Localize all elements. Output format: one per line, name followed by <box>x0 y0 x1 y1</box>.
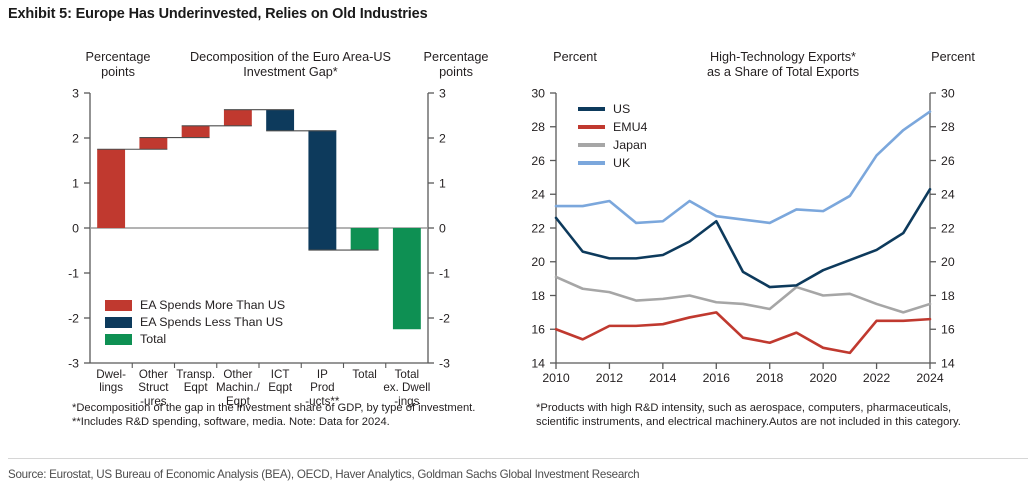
right-chart-footnote: *Products with high R&D intensity, such … <box>536 401 991 429</box>
waterfall-bar <box>139 138 167 150</box>
y-tick-label: 1 <box>439 176 446 190</box>
legend-label: EA Spends Less Than US <box>140 315 283 329</box>
line-plot: 141416161818202022222424262628283030 <box>518 0 1036 400</box>
footer-divider <box>8 458 1028 459</box>
y-tick-label: 30 <box>531 86 545 100</box>
y-tick-label: -1 <box>68 266 79 280</box>
y-tick-label: 2 <box>72 131 79 145</box>
waterfall-bar <box>351 228 379 250</box>
waterfall-bar <box>266 110 294 131</box>
legend-swatch <box>578 107 605 110</box>
y-tick-label: -3 <box>68 356 79 370</box>
connector-lines <box>97 110 378 250</box>
x-tick-label: 2012 <box>583 371 635 385</box>
legend-swatch <box>105 300 132 311</box>
y-tick-label: 14 <box>941 356 955 370</box>
legend-item-ea-spends-more-than-us: EA Spends More Than US <box>105 298 285 312</box>
legend-label: US <box>613 102 630 116</box>
waterfall-bar <box>182 126 210 138</box>
y-tick-label: 26 <box>531 154 545 168</box>
line-chart-panel: Percent High-Technology Exports* as a Sh… <box>518 0 1036 455</box>
x-tick-label: 2018 <box>744 371 796 385</box>
legend-swatch <box>578 143 605 146</box>
legend-item-uk: UK <box>578 156 630 170</box>
legend-item-emu4: EMU4 <box>578 120 647 134</box>
legend-item-japan: Japan <box>578 138 647 152</box>
waterfall-bar <box>393 228 421 329</box>
y-tick-label: -2 <box>439 311 450 325</box>
waterfall-bar <box>97 149 125 228</box>
waterfall-chart-panel: Percentage points Decomposition of the E… <box>0 0 518 455</box>
legend-label: Japan <box>613 138 647 152</box>
x-tick-label: 2022 <box>851 371 903 385</box>
source-note: Source: Eurostat, US Bureau of Economic … <box>8 468 639 481</box>
legend-swatch <box>578 161 605 164</box>
legend-swatch <box>105 317 132 328</box>
legend-label: UK <box>613 156 630 170</box>
y-tick-label: 28 <box>941 120 955 134</box>
y-tick-label: 18 <box>531 289 545 303</box>
legend-label: Total <box>140 332 166 346</box>
y-tick-label: 20 <box>941 255 955 269</box>
y-tick-label: 0 <box>439 221 446 235</box>
y-tick-label: 16 <box>941 323 955 337</box>
legend-label: EMU4 <box>613 120 647 134</box>
legend-item-total: Total <box>105 332 166 346</box>
y-tick-label: -2 <box>68 311 79 325</box>
waterfall-plot: -3-3-2-2-1-100112233 <box>0 0 518 400</box>
y-tick-label: 2 <box>439 131 446 145</box>
y-tick-label: 26 <box>941 154 955 168</box>
x-tick-label: 2020 <box>797 371 849 385</box>
y-tick-label: 22 <box>941 221 955 235</box>
y-tick-label: 3 <box>72 86 79 100</box>
y-tick-label: 20 <box>531 255 545 269</box>
legend-swatch <box>105 334 132 345</box>
x-category-label: Total ex. Dwell -ings <box>382 368 432 408</box>
y-tick-label: 24 <box>941 188 955 202</box>
bars-group <box>97 110 421 330</box>
y-tick-label: 1 <box>72 176 79 190</box>
y-tick-label: 28 <box>531 120 545 134</box>
y-tick-label: 3 <box>439 86 446 100</box>
legend-label: EA Spends More Than US <box>140 298 285 312</box>
y-tick-label: 0 <box>72 221 79 235</box>
legend-item-us: US <box>578 102 630 116</box>
y-tick-label: 14 <box>531 356 545 370</box>
y-tick-label: 16 <box>531 323 545 337</box>
y-tick-label: 22 <box>531 221 545 235</box>
x-tick-label: 2010 <box>530 371 582 385</box>
waterfall-bar <box>224 110 252 126</box>
series-line-emu4 <box>556 312 930 353</box>
y-tick-label: -1 <box>439 266 450 280</box>
x-tick-label: 2016 <box>690 371 742 385</box>
x-tick-label: 2014 <box>637 371 689 385</box>
y-tick-label: 30 <box>941 86 955 100</box>
legend-item-ea-spends-less-than-us: EA Spends Less Than US <box>105 315 283 329</box>
y-tick-label: 24 <box>531 188 545 202</box>
y-tick-label: 18 <box>941 289 955 303</box>
x-tick-label: 2024 <box>904 371 956 385</box>
waterfall-bar <box>308 130 336 250</box>
y-tick-label: -3 <box>439 356 450 370</box>
legend-swatch <box>578 125 605 128</box>
series-line-japan <box>556 277 930 312</box>
